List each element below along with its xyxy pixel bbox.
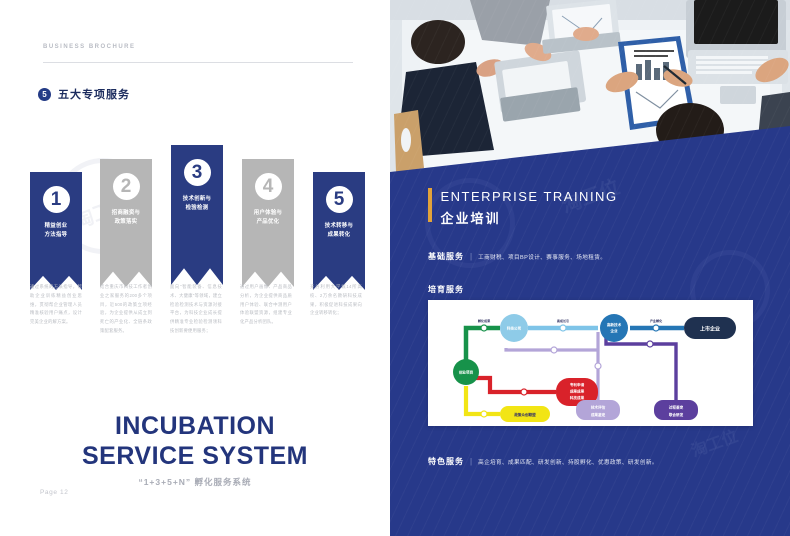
cultivation-service-heading: 培育服务	[428, 284, 464, 295]
flow-node-tech-eval	[576, 400, 620, 420]
svg-text:创业项目: 创业项目	[458, 370, 474, 375]
description-1: 通过系统的方法指导，帮助企业训练精益创业思维，贯彻帮企业管理人员精准核验用户痛点…	[30, 283, 82, 336]
ribbon-4-number: 4	[255, 173, 282, 200]
ribbon-5-number: 5	[326, 186, 353, 213]
ribbon-2-number: 2	[113, 173, 140, 200]
kicker-label: BUSINESS BROCHURE	[43, 44, 136, 50]
ribbon-5-label: 技术转移与 成果转化	[325, 222, 353, 241]
flow-node-joint-rd	[654, 400, 698, 420]
page-title: INCUBATION SERVICE SYSTEM “1+3+5+N” 孵化服务…	[0, 412, 390, 488]
basic-service-key: 基础服务	[428, 251, 464, 262]
ribbon-3-label: 技术创新与 检验检测	[183, 195, 211, 214]
meeting-photo	[390, 0, 790, 172]
ribbon-4[interactable]: 4 用户体验与 产品优化	[242, 159, 294, 287]
flow-node-high-tech	[600, 314, 628, 342]
basic-service-value: 工商财税、项目BP设计、赛事服务、场地租赁。	[478, 253, 606, 261]
svg-text:成果成果: 成果成果	[570, 389, 585, 394]
svg-text:过程鉴定: 过程鉴定	[669, 405, 684, 410]
right-page: 淘工位 淘工位 ENTERPRISE TRAINING 企业培训 基础服务 | …	[390, 0, 790, 536]
ribbon-3-number: 3	[184, 159, 211, 186]
incubation-flow-diagram: 孵化成果 高成长引 产业孵化	[428, 300, 753, 426]
ribbon-1[interactable]: 1 精益创业 方法指导	[30, 172, 82, 290]
heading-chinese: 企业培训	[441, 208, 618, 227]
ribbon-group: 1 精益创业 方法指导 2 招商融资与 政策落实	[30, 145, 365, 290]
featured-service-separator: |	[470, 457, 472, 466]
basic-service-row: 基础服务 | 工商财税、项目BP设计、赛事服务、场地租赁。	[428, 251, 606, 262]
featured-service-row: 特色服务 | 高企培育、成果匹配、研发创新、持股孵化、优惠政策、研发创新。	[428, 456, 658, 467]
section-number-badge: 5	[38, 88, 51, 101]
left-page: 淘工位 BUSINESS BROCHURE 5 五大专项服务 1 精益创业 方法…	[0, 0, 390, 536]
section-title: 五大专项服务	[58, 86, 130, 102]
featured-service-key: 特色服务	[428, 456, 464, 467]
ribbon-2[interactable]: 2 招商融资与 政策落实	[100, 159, 152, 287]
page-subtitle: “1+3+5+N” 孵化服务系统	[0, 476, 390, 488]
page-title-line1: INCUBATION	[0, 412, 390, 442]
ribbon-4-label: 用户体验与 产品优化	[254, 209, 282, 228]
svg-text:科技公司: 科技公司	[507, 326, 522, 331]
svg-text:成果鉴定: 成果鉴定	[591, 412, 606, 417]
ribbon-1-label: 精益创业 方法指导	[45, 222, 68, 241]
page-number-left: Page 12	[40, 489, 68, 496]
svg-text:联合研发: 联合研发	[669, 412, 684, 417]
flowchart-card[interactable]: 孵化成果 高成长引 产业孵化	[428, 300, 753, 426]
description-5: 充分利用大学城14所高校、2万余名教研科技成果，积极促进科技成果向企业转移转化；	[310, 283, 362, 336]
accent-bar	[428, 188, 432, 222]
description-2: 结合重庆市科技工作者创业之家服务的200多个项目，近500的政策立项经验，为企业…	[100, 283, 152, 336]
ribbon-1-number: 1	[43, 186, 70, 213]
featured-service-value: 高企培育、成果匹配、研发创新、持股孵化、优惠政策、研发创新。	[478, 458, 658, 466]
watermark-text-right-2: 淘工位	[687, 423, 740, 462]
description-3: 面向“智能装备、信息技术、大健康”等领域，建立检验检测技术与资源对接平台，为科技…	[170, 283, 222, 336]
description-4: 通过用户画像、产品商品分析，为企业提供商品质用户体验、联合中测用户体验联盟资源，…	[240, 283, 292, 336]
svg-text:技术评估: 技术评估	[591, 405, 606, 410]
header-divider	[43, 62, 353, 63]
svg-text:上市企业: 上市企业	[700, 326, 720, 333]
flow-edge-label-2: 高成长引	[557, 318, 569, 323]
section-heading: 5 五大专项服务	[38, 86, 130, 102]
svg-text:政策众创联盟: 政策众创联盟	[514, 412, 536, 417]
brochure-spread: 淘工位 BUSINESS BROCHURE 5 五大专项服务 1 精益创业 方法…	[0, 0, 790, 536]
flow-edge-label-3: 产业孵化	[650, 318, 663, 323]
ribbon-2-label: 招商融资与 政策落实	[112, 209, 140, 228]
svg-text:高新技术: 高新技术	[607, 322, 622, 327]
page-title-line2: SERVICE SYSTEM	[0, 442, 390, 472]
svg-text:科技成果: 科技成果	[570, 395, 585, 400]
ribbon-3[interactable]: 3 技术创新与 检验检测	[171, 145, 223, 285]
heading-english: ENTERPRISE TRAINING	[441, 188, 618, 206]
description-columns: 通过系统的方法指导，帮助企业训练精益创业思维，贯彻帮企业管理人员精准核验用户痛点…	[30, 283, 365, 336]
basic-service-separator: |	[470, 252, 472, 261]
svg-text:企业: 企业	[609, 328, 618, 333]
right-page-heading: ENTERPRISE TRAINING 企业培训	[428, 188, 618, 227]
flow-edge-label-1: 孵化成果	[478, 318, 491, 323]
ribbon-5[interactable]: 5 技术转移与 成果转化	[313, 172, 365, 290]
svg-text:专利申请: 专利申请	[570, 382, 585, 387]
